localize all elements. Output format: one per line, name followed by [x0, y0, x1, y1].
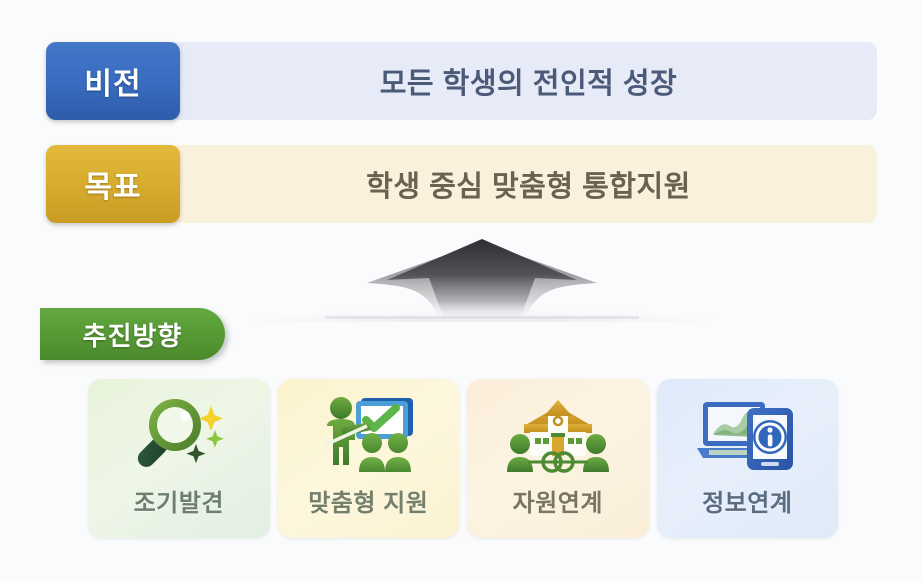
teacher-board-students-icon	[316, 391, 420, 477]
strategy-card-label: 조기발견	[134, 483, 224, 518]
upward-arrow-mountain-icon	[247, 236, 717, 322]
strategy-card-label: 자원연계	[513, 483, 603, 518]
strategy-card-label: 정보연계	[702, 483, 792, 518]
school-linked-people-icon	[506, 391, 610, 477]
strategy-card-label: 맞춤형 지원	[308, 483, 428, 518]
laptop-tablet-info-icon	[695, 391, 799, 477]
direction-tag-label: 추진방향	[83, 316, 183, 353]
vision-row: 비전 모든 학생의 전인적 성장	[46, 42, 877, 120]
strategy-card-resource-linkage[interactable]: 자원연계	[467, 379, 649, 538]
goal-tag: 목표	[46, 145, 180, 223]
magnifying-glass-sparkle-icon	[127, 391, 231, 477]
vision-tag-label: 비전	[84, 59, 141, 103]
strategy-card-early-detection[interactable]: 조기발견	[88, 379, 270, 538]
strategy-card-information-linkage[interactable]: 정보연계	[657, 379, 839, 538]
goal-statement: 학생 중심 맞춤형 통합지원	[180, 145, 877, 223]
strategy-card-customized-support[interactable]: 맞춤형 지원	[278, 379, 460, 538]
strategy-card-list: 조기발견	[88, 379, 838, 538]
goal-row: 목표 학생 중심 맞춤형 통합지원	[46, 145, 877, 223]
direction-tag: 추진방향	[40, 308, 225, 360]
goal-tag-label: 목표	[84, 162, 141, 206]
vision-tag: 비전	[46, 42, 180, 120]
vision-statement: 모든 학생의 전인적 성장	[180, 42, 877, 120]
infographic-canvas: 비전 모든 학생의 전인적 성장 목표 학생 중심 맞춤형 통합지원	[0, 0, 923, 581]
